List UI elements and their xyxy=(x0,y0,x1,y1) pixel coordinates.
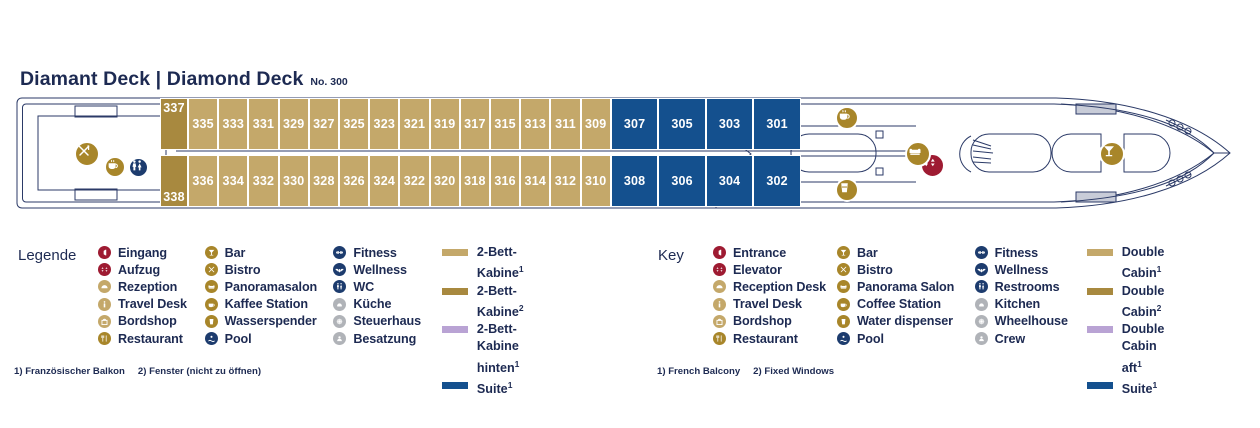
legend-item-label: Entrance xyxy=(733,246,786,260)
cabin-303[interactable]: 303 xyxy=(706,98,754,150)
cabin-number: 336 xyxy=(192,174,213,188)
reception-icon xyxy=(713,280,726,293)
reception-icon xyxy=(98,280,111,293)
cabin-type-label: Double Cabin xyxy=(1122,321,1198,355)
kitchen-icon xyxy=(975,298,988,311)
cabin-number: 306 xyxy=(671,174,692,188)
legend-item-label: Water dispenser xyxy=(857,314,953,328)
cabin-type-swatch-t2 xyxy=(1087,288,1113,295)
cabin-type-label: 2-Bett-Kabine1 xyxy=(477,244,554,283)
restaurant-icon xyxy=(713,332,726,345)
cabin-type-label: hinten1 xyxy=(477,356,520,377)
cabin-number: 315 xyxy=(494,117,515,131)
cabin-type-legend-row: Double Cabin1 xyxy=(1087,244,1198,283)
cabin-333[interactable]: 333 xyxy=(218,98,248,150)
legend-item-label: Wasserspender xyxy=(225,314,317,328)
legend-item-label: Travel Desk xyxy=(733,297,802,311)
deck-plan: 3373353333313293273253233213193173153133… xyxy=(16,96,1244,211)
cabin-327[interactable]: 327 xyxy=(309,98,339,150)
cabin-number: 333 xyxy=(223,117,244,131)
cabin-number: 321 xyxy=(404,117,425,131)
cabin-type-label: 2-Bett-Kabine2 xyxy=(477,283,554,322)
cabin-type-legend-row: Double Cabin xyxy=(1087,321,1198,355)
footnote: 1) French Balcony xyxy=(657,366,740,377)
cabin-number: 308 xyxy=(624,174,645,188)
cabin-number: 303 xyxy=(719,117,740,131)
legend-item-label: Wellness xyxy=(353,263,407,277)
cabin-type-swatch-t3 xyxy=(1087,326,1113,333)
bar-icon xyxy=(205,246,218,259)
legend-item-label: Pool xyxy=(857,332,884,346)
legend-item-bistro[interactable]: Bistro xyxy=(837,261,975,278)
cabin-type-label: Double Cabin1 xyxy=(1122,244,1198,283)
cabin-332[interactable]: 332 xyxy=(248,155,278,207)
legend-item-label: Rezeption xyxy=(118,280,177,294)
legend-item-label: Bordshop xyxy=(118,314,177,328)
cabin-type-legend-row: Double Cabin2 xyxy=(1087,283,1198,322)
cabin-325[interactable]: 325 xyxy=(339,98,369,150)
cabin-321[interactable]: 321 xyxy=(399,98,429,150)
panorama-salon-icon[interactable] xyxy=(905,141,931,167)
cabin-type-legend-row: 2-Bett-Kabine2 xyxy=(442,283,554,322)
legend-item-label: Kaffee Station xyxy=(225,297,308,311)
bar-icon[interactable] xyxy=(1099,141,1125,167)
cabin-334[interactable]: 334 xyxy=(218,155,248,207)
legend-item-coffee-station[interactable]: Coffee Station xyxy=(837,296,975,313)
cabin-number: 334 xyxy=(223,174,244,188)
legend-item-bar[interactable]: Bar xyxy=(837,244,975,261)
crew-icon xyxy=(975,332,988,345)
legend-item-coffee-station[interactable]: Kaffee Station xyxy=(205,296,334,313)
legend-item-label: Bistro xyxy=(857,263,893,277)
legend-item-label: Küche xyxy=(353,297,391,311)
cabin-number: 304 xyxy=(719,174,740,188)
legend-item-wellness[interactable]: Wellness xyxy=(975,261,1087,278)
legend-item-restaurant[interactable]: Restaurant xyxy=(713,330,837,347)
cabin-302[interactable]: 302 xyxy=(753,155,801,207)
cabin-number: 338 xyxy=(163,190,184,204)
legend-item-entrance[interactable]: Eingang xyxy=(98,244,205,261)
cabin-314[interactable]: 314 xyxy=(520,155,550,207)
wc-icon xyxy=(333,280,346,293)
cabin-layer: 3373353333313293273253233213193173153133… xyxy=(16,96,1244,211)
wheelhouse-icon xyxy=(333,315,346,328)
cabin-320[interactable]: 320 xyxy=(430,155,460,207)
footnote: 2) Fixed Windows xyxy=(753,366,834,377)
cabin-type-swatch-t2 xyxy=(442,288,468,295)
cabin-308[interactable]: 308 xyxy=(611,155,659,207)
cabin-number: 309 xyxy=(585,117,606,131)
legend-item-pool[interactable]: Pool xyxy=(205,330,334,347)
legend-en-cabin-types: Double Cabin1Double Cabin2Double Cabinaf… xyxy=(1087,244,1198,398)
bordshop-icon xyxy=(713,315,726,328)
wheelhouse-icon xyxy=(975,315,988,328)
wellness-icon xyxy=(975,263,988,276)
legend-en-title: Key xyxy=(658,247,684,264)
legend-item-kitchen[interactable]: Kitchen xyxy=(975,296,1087,313)
cabin-type-swatch-su xyxy=(442,382,468,389)
cabin-type-label: Suite1 xyxy=(477,377,513,398)
bar-icon xyxy=(837,246,850,259)
cabin-number: 318 xyxy=(464,174,485,188)
cabin-type-legend-row: Suite1 xyxy=(442,377,554,398)
cabin-type-legend-row: Suite1 xyxy=(1087,377,1198,398)
cabin-329[interactable]: 329 xyxy=(279,98,309,150)
cabin-310[interactable]: 310 xyxy=(581,155,611,207)
legend-item-bar[interactable]: Bar xyxy=(205,244,334,261)
cabin-313[interactable]: 313 xyxy=(520,98,550,150)
legend-item-elevator[interactable]: Aufzug xyxy=(98,261,205,278)
deck-title: Diamant Deck | Diamond Deck xyxy=(20,68,303,91)
legend-de-title: Legende xyxy=(18,247,76,264)
cabin-305[interactable]: 305 xyxy=(658,98,706,150)
panorama-salon-icon xyxy=(837,280,850,293)
cabin-number: 311 xyxy=(555,117,576,131)
cabin-type-label: aft1 xyxy=(1122,356,1142,377)
legend-item-label: Restaurant xyxy=(733,332,798,346)
legend-de-column-3: FitnessWellnessWCKücheSteuerhausBesatzun… xyxy=(333,244,442,398)
coffee-station-icon[interactable] xyxy=(835,106,859,130)
legend-item-label: Panorama Salon xyxy=(857,280,954,294)
cabin-number: 305 xyxy=(671,117,692,131)
cabin-315[interactable]: 315 xyxy=(490,98,520,150)
legend-item-travel-desk[interactable]: Travel Desk xyxy=(713,296,837,313)
legend-item-label: Reception Desk xyxy=(733,280,826,294)
footnotes-de: 1) Französischer Balkon2) Fenster (nicht… xyxy=(14,366,261,377)
legend-item-reception[interactable]: Rezeption xyxy=(98,278,205,295)
legend-item-travel-desk[interactable]: Travel Desk xyxy=(98,296,205,313)
legend-item-label: Bar xyxy=(225,246,246,260)
legend-item-wellness[interactable]: Wellness xyxy=(333,261,442,278)
legend-item-bordshop[interactable]: Bordshop xyxy=(98,313,205,330)
legend-item-label: Bistro xyxy=(225,263,261,277)
legend-item-restaurant[interactable]: Restaurant xyxy=(98,330,205,347)
cabin-type-swatch-blank xyxy=(1087,361,1113,368)
cabin-326[interactable]: 326 xyxy=(339,155,369,207)
legend-item-wheelhouse[interactable]: Steuerhaus xyxy=(333,313,442,330)
legend-item-label: Elevator xyxy=(733,263,782,277)
bordshop-icon xyxy=(98,315,111,328)
travel-desk-icon xyxy=(98,298,111,311)
cabin-number: 301 xyxy=(766,117,787,131)
cabin-type-swatch-blank xyxy=(442,361,468,368)
cabin-337[interactable]: 337 xyxy=(160,98,188,150)
cabin-number: 331 xyxy=(253,117,274,131)
cabin-type-swatch-t1 xyxy=(442,249,468,256)
legend-item-label: Wellness xyxy=(995,263,1049,277)
legend-item-label: Fitness xyxy=(995,246,1038,260)
entrance-icon xyxy=(98,246,111,259)
travel-desk-icon xyxy=(713,298,726,311)
legend-de-cabin-types: 2-Bett-Kabine12-Bett-Kabine22-Bett-Kabin… xyxy=(442,244,554,398)
cabin-336[interactable]: 336 xyxy=(188,155,218,207)
cabin-306[interactable]: 306 xyxy=(658,155,706,207)
cabin-number: 322 xyxy=(404,174,425,188)
cabin-number: 313 xyxy=(525,117,546,131)
pool-icon xyxy=(205,332,218,345)
fitness-icon xyxy=(333,246,346,259)
cabin-number: 328 xyxy=(313,174,334,188)
cabin-317[interactable]: 317 xyxy=(460,98,490,150)
legend-item-panorama-salon[interactable]: Panoramasalon xyxy=(205,278,334,295)
legend-item-label: Bar xyxy=(857,246,878,260)
pool-icon xyxy=(837,332,850,345)
cabin-304[interactable]: 304 xyxy=(706,155,754,207)
legend-item-crew[interactable]: Crew xyxy=(975,330,1087,347)
cabin-number: 324 xyxy=(374,174,395,188)
legend-item-label: WC xyxy=(353,280,374,294)
fitness-icon xyxy=(975,246,988,259)
bistro-icon[interactable] xyxy=(74,141,100,167)
deck-number: No. 300 xyxy=(310,76,347,88)
cabin-322[interactable]: 322 xyxy=(399,155,429,207)
legend-item-reception[interactable]: Reception Desk xyxy=(713,278,837,295)
cabin-number: 337 xyxy=(163,101,184,115)
wc-icon[interactable] xyxy=(128,157,149,178)
legend-item-kitchen[interactable]: Küche xyxy=(333,296,442,313)
cabin-311[interactable]: 311 xyxy=(550,98,580,150)
cabin-type-legend-row: hinten1 xyxy=(442,356,554,377)
cabin-number: 332 xyxy=(253,174,274,188)
cabin-319[interactable]: 319 xyxy=(430,98,460,150)
cabin-number: 330 xyxy=(283,174,304,188)
cabin-type-label: 2-Bett-Kabine xyxy=(477,321,554,355)
legend-item-elevator[interactable]: Elevator xyxy=(713,261,837,278)
cabin-number: 326 xyxy=(343,174,364,188)
wc-icon xyxy=(975,280,988,293)
coffee-station-icon[interactable] xyxy=(104,156,126,178)
elevator-icon xyxy=(713,263,726,276)
cabin-type-swatch-t3 xyxy=(442,326,468,333)
legend-item-label: Pool xyxy=(225,332,252,346)
cabin-338[interactable]: 338 xyxy=(160,155,188,207)
legend-item-fitness[interactable]: Fitness xyxy=(975,244,1087,261)
cabin-335[interactable]: 335 xyxy=(188,98,218,150)
water-dispenser-icon[interactable] xyxy=(835,178,859,202)
cabin-number: 310 xyxy=(585,174,606,188)
legend-en-column-3: FitnessWellnessRestroomsKitchenWheelhous… xyxy=(975,244,1087,398)
cabin-number: 320 xyxy=(434,174,455,188)
cabin-type-legend-row: 2-Bett-Kabine xyxy=(442,321,554,355)
bistro-icon xyxy=(837,263,850,276)
legend-item-label: Aufzug xyxy=(118,263,160,277)
coffee-station-icon xyxy=(837,298,850,311)
legend-item-label: Travel Desk xyxy=(118,297,187,311)
cabin-309[interactable]: 309 xyxy=(581,98,611,150)
cabin-number: 325 xyxy=(343,117,364,131)
cabin-type-swatch-t1 xyxy=(1087,249,1113,256)
cabin-number: 335 xyxy=(192,117,213,131)
cabin-307[interactable]: 307 xyxy=(611,98,659,150)
legend-item-label: Steuerhaus xyxy=(353,314,421,328)
cabin-number: 316 xyxy=(494,174,515,188)
cabin-318[interactable]: 318 xyxy=(460,155,490,207)
cabin-number: 307 xyxy=(624,117,645,131)
legend-item-label: Besatzung xyxy=(353,332,416,346)
cabin-number: 319 xyxy=(434,117,455,131)
cabin-number: 317 xyxy=(464,117,485,131)
legend-item-crew[interactable]: Besatzung xyxy=(333,330,442,347)
legend-item-pool[interactable]: Pool xyxy=(837,330,975,347)
crew-icon xyxy=(333,332,346,345)
legend-item-wheelhouse[interactable]: Wheelhouse xyxy=(975,313,1087,330)
cabin-316[interactable]: 316 xyxy=(490,155,520,207)
cabin-number: 302 xyxy=(766,174,787,188)
cabin-type-legend-row: aft1 xyxy=(1087,356,1198,377)
legend-item-label: Wheelhouse xyxy=(995,314,1068,328)
cabin-number: 327 xyxy=(313,117,334,131)
footnotes-en: 1) French Balcony2) Fixed Windows xyxy=(657,366,834,377)
panorama-salon-icon xyxy=(205,280,218,293)
cabin-323[interactable]: 323 xyxy=(369,98,399,150)
cabin-number: 314 xyxy=(525,174,546,188)
cabin-type-legend-row: 2-Bett-Kabine1 xyxy=(442,244,554,283)
footnote: 2) Fenster (nicht zu öffnen) xyxy=(138,366,261,377)
legend-item-label: Kitchen xyxy=(995,297,1040,311)
cabin-330[interactable]: 330 xyxy=(279,155,309,207)
legend-item-label: Eingang xyxy=(118,246,167,260)
cabin-number: 323 xyxy=(374,117,395,131)
kitchen-icon xyxy=(333,298,346,311)
elevator-icon xyxy=(98,263,111,276)
legend-item-bordshop[interactable]: Bordshop xyxy=(713,313,837,330)
legend-item-panorama-salon[interactable]: Panorama Salon xyxy=(837,278,975,295)
cabin-number: 312 xyxy=(555,174,576,188)
cabin-type-label: Suite1 xyxy=(1122,377,1158,398)
legend-en-column-2: BarBistroPanorama SalonCoffee StationWat… xyxy=(837,244,975,398)
footnote: 1) Französischer Balkon xyxy=(14,366,125,377)
legend-item-water-dispenser[interactable]: Wasserspender xyxy=(205,313,334,330)
cabin-324[interactable]: 324 xyxy=(369,155,399,207)
legend-item-label: Coffee Station xyxy=(857,297,941,311)
legend-item-label: Crew xyxy=(995,332,1025,346)
legend-item-label: Restrooms xyxy=(995,280,1060,294)
page-title: Diamant Deck | Diamond Deck No. 300 xyxy=(20,68,348,91)
coffee-station-icon xyxy=(205,298,218,311)
bistro-icon xyxy=(205,263,218,276)
cabin-type-swatch-su xyxy=(1087,382,1113,389)
legend-item-label: Panoramasalon xyxy=(225,280,318,294)
wellness-icon xyxy=(333,263,346,276)
legend-item-label: Restaurant xyxy=(118,332,183,346)
legend-item-wc[interactable]: Restrooms xyxy=(975,278,1087,295)
water-dispenser-icon xyxy=(837,315,850,328)
legend-item-water-dispenser[interactable]: Water dispenser xyxy=(837,313,975,330)
cabin-type-label: Double Cabin2 xyxy=(1122,283,1198,322)
legend-item-label: Fitness xyxy=(353,246,396,260)
legend-item-fitness[interactable]: Fitness xyxy=(333,244,442,261)
cabin-301[interactable]: 301 xyxy=(753,98,801,150)
cabin-312[interactable]: 312 xyxy=(550,155,580,207)
cabin-number: 329 xyxy=(283,117,304,131)
water-dispenser-icon xyxy=(205,315,218,328)
legend-item-entrance[interactable]: Entrance xyxy=(713,244,837,261)
legend-item-bistro[interactable]: Bistro xyxy=(205,261,334,278)
cabin-328[interactable]: 328 xyxy=(309,155,339,207)
legend-item-wc[interactable]: WC xyxy=(333,278,442,295)
cabin-331[interactable]: 331 xyxy=(248,98,278,150)
legend-item-label: Bordshop xyxy=(733,314,792,328)
restaurant-icon xyxy=(98,332,111,345)
entrance-icon xyxy=(713,246,726,259)
